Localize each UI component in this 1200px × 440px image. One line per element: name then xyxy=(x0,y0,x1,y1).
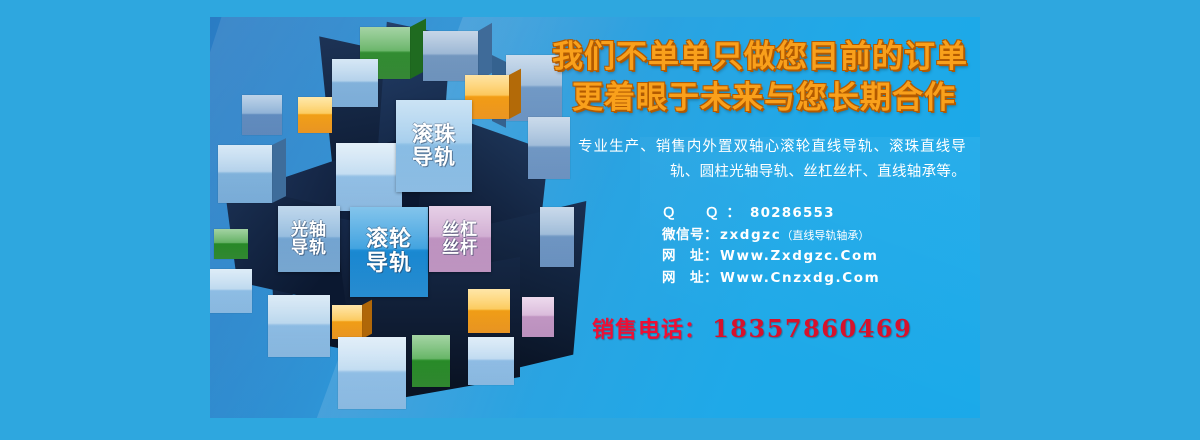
cube-face-side xyxy=(272,138,286,203)
product-label-line1: 滚轮 xyxy=(366,228,412,252)
product-label-line2: 导轨 xyxy=(412,146,456,169)
description-text: 专业生产、销售内外置双轴心滚轮直线导轨、滚珠直线导轨、圆柱光轴导轨、丝杠丝杆、直… xyxy=(550,135,970,185)
contact-row-website-2: 网 址： Www.Cnzxdg.Com xyxy=(662,268,970,290)
cube-face-front xyxy=(336,143,402,211)
cube-face-front xyxy=(468,289,510,333)
cube-gloss xyxy=(214,229,248,259)
cube-gloss xyxy=(332,305,362,339)
contact-row-wechat: 微信号： zxdgzc （直线导轨轴承） xyxy=(662,225,970,247)
contact-row-qq: Ｑ Ｑ： 80286553 xyxy=(662,203,970,225)
product-label-line2: 丝杆 xyxy=(442,239,478,257)
product-label-line1: 滚珠 xyxy=(412,123,456,146)
banner-stage: 滚珠 导轨 光轴 导轨 滚轮 导轨 丝杠 丝杆 我们 xyxy=(0,0,1200,440)
wechat-note: （直线导轨轴承） xyxy=(781,227,869,245)
cube-cluster-graphic: 滚珠 导轨 光轴 导轨 滚轮 导轨 丝杠 丝杆 xyxy=(210,17,570,418)
cube-lightblue-low-left xyxy=(210,269,252,313)
cube-face-front xyxy=(242,95,282,135)
cube-orange-low xyxy=(332,305,362,339)
cube-orange-left xyxy=(298,97,332,133)
cube-steel-top xyxy=(423,31,478,81)
wechat-value: zxdgzc xyxy=(720,225,781,247)
cube-face-front xyxy=(412,335,450,387)
cube-green-left-low xyxy=(214,229,248,259)
cube-face-side xyxy=(362,300,372,339)
cube-orange-bottom-right xyxy=(468,289,510,333)
product-label-line1: 光轴 xyxy=(291,221,327,239)
cube-lightblue-bottom-right xyxy=(468,337,514,385)
cube-face-front xyxy=(298,97,332,133)
cube-face-front xyxy=(214,229,248,259)
banner-copy: 我们不单单只做您目前的订单 更着眼于未来与您长期合作 专业生产、销售内外置双轴心… xyxy=(550,37,970,407)
cube-face-front xyxy=(268,295,330,357)
phone-block: 销售电话： 18357860469 xyxy=(550,312,970,344)
phone-label: 销售电话： xyxy=(592,318,707,343)
qq-label: Ｑ Ｑ： xyxy=(662,203,748,225)
product-label-line2: 导轨 xyxy=(291,239,327,257)
cube-gloss xyxy=(423,31,478,81)
cube-gloss xyxy=(468,289,510,333)
cube-gloss xyxy=(336,143,402,211)
website-2-value[interactable]: Www.Cnzxdg.Com xyxy=(720,268,880,290)
cube-lightblue-low-mid xyxy=(268,295,330,357)
qq-value: 80286553 xyxy=(750,203,835,225)
cube-gloss xyxy=(338,337,406,409)
product-label-gunzhu-daogui[interactable]: 滚珠 导轨 xyxy=(396,100,472,192)
headline-line-2: 更着眼于未来与您长期合作 xyxy=(558,78,970,119)
cube-face-side xyxy=(478,23,492,81)
phone-number[interactable]: 18357860469 xyxy=(712,314,912,343)
cube-midblue-left xyxy=(242,95,282,135)
product-label-line2: 导轨 xyxy=(366,252,412,276)
cube-lightblue-center xyxy=(336,143,402,211)
wechat-label: 微信号： xyxy=(662,225,718,247)
headline: 我们不单单只做您目前的订单 更着眼于未来与您长期合作 xyxy=(550,37,970,119)
cube-face-front xyxy=(332,59,378,107)
product-label-line1: 丝杠 xyxy=(442,221,478,239)
cube-lightblue-bottom-big xyxy=(338,337,406,409)
cube-face-front xyxy=(423,31,478,81)
cube-gloss xyxy=(468,337,514,385)
cube-gloss xyxy=(210,269,252,313)
product-label-gunlun-daogui[interactable]: 滚轮 导轨 xyxy=(350,207,428,297)
cube-lightblue-upper xyxy=(332,59,378,107)
cube-green-bottom xyxy=(412,335,450,387)
product-label-sigang-sigan[interactable]: 丝杠 丝杆 xyxy=(429,206,491,272)
cube-gloss xyxy=(242,95,282,135)
headline-line-1: 我们不单单只做您目前的订单 xyxy=(550,37,970,78)
product-label-guangzhou-daogui[interactable]: 光轴 导轨 xyxy=(278,206,340,272)
cube-face-front xyxy=(468,337,514,385)
promo-banner: 滚珠 导轨 光轴 导轨 滚轮 导轨 丝杠 丝杆 我们 xyxy=(210,17,980,418)
contact-block: Ｑ Ｑ： 80286553 微信号： zxdgzc （直线导轨轴承） 网 址： … xyxy=(550,203,970,290)
cube-gloss xyxy=(268,295,330,357)
contact-row-website-1: 网 址： Www.Zxdgzc.Com xyxy=(662,246,970,268)
cube-face-front xyxy=(338,337,406,409)
cube-gloss xyxy=(332,59,378,107)
website-1-value[interactable]: Www.Zxdgzc.Com xyxy=(720,246,879,268)
website-2-label: 网 址： xyxy=(662,268,718,290)
cube-lightblue-mid-left xyxy=(218,145,272,203)
cube-gloss xyxy=(298,97,332,133)
cube-gloss xyxy=(218,145,272,203)
cube-face-side xyxy=(509,69,521,119)
cube-face-front xyxy=(218,145,272,203)
cube-gloss xyxy=(412,335,450,387)
cube-face-front xyxy=(332,305,362,339)
website-1-label: 网 址： xyxy=(662,246,718,268)
cube-face-front xyxy=(210,269,252,313)
